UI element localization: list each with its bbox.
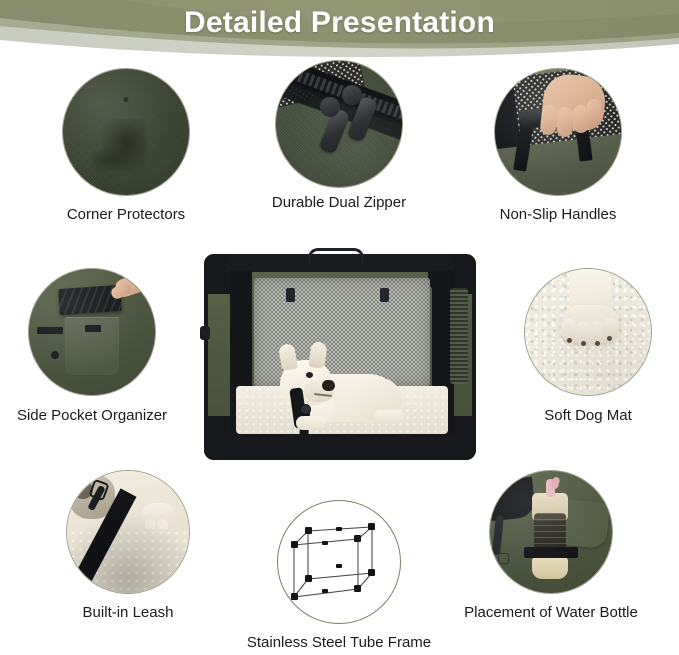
dog-illustration [270, 344, 400, 424]
feature-soft-dog-mat[interactable]: Soft Dog Mat [524, 268, 652, 396]
header-banner: Detailed Presentation [0, 0, 679, 62]
feature-label-built-in-leash: Built-in Leash [83, 604, 174, 622]
frame-wireframe [278, 501, 401, 624]
paw-on-mat-photo [524, 268, 652, 396]
feature-built-in-leash[interactable]: Built-in Leash [66, 470, 190, 594]
side-pocket-photo [28, 268, 156, 396]
feature-side-pocket-organizer[interactable]: Side Pocket Organizer [28, 268, 156, 396]
leash-photo [66, 470, 190, 594]
feature-durable-dual-zipper[interactable]: Durable Dual Zipper [275, 60, 403, 188]
product-hero-image [198, 248, 482, 468]
feature-non-slip-handles[interactable]: Non-Slip Handles [494, 68, 622, 196]
feature-label-soft-dog-mat: Soft Dog Mat [544, 407, 632, 425]
feature-label-durable-dual-zipper: Durable Dual Zipper [272, 194, 406, 212]
feature-placement-of-water-bottle[interactable]: Placement of Water Bottle [489, 470, 613, 594]
corner-protector-photo [62, 68, 190, 196]
feature-corner-protectors[interactable]: Corner Protectors [62, 68, 190, 196]
feature-stainless-steel-tube-frame[interactable]: Stainless Steel Tube Frame [277, 500, 401, 624]
tube-frame-diagram [277, 500, 401, 624]
feature-label-corner-protectors: Corner Protectors [67, 206, 185, 224]
handle-grip-photo [494, 68, 622, 196]
feature-label-non-slip-handles: Non-Slip Handles [500, 206, 617, 224]
feature-label-placement-of-water-bottle: Placement of Water Bottle [464, 604, 638, 622]
water-bottle-photo [489, 470, 613, 594]
infographic-page: Detailed Presentation Corner Protectors [0, 0, 679, 655]
page-title: Detailed Presentation [0, 6, 679, 40]
feature-label-stainless-steel-tube-frame: Stainless Steel Tube Frame [247, 634, 431, 652]
dual-zipper-photo [275, 60, 403, 188]
feature-label-side-pocket-organizer: Side Pocket Organizer [17, 407, 167, 425]
